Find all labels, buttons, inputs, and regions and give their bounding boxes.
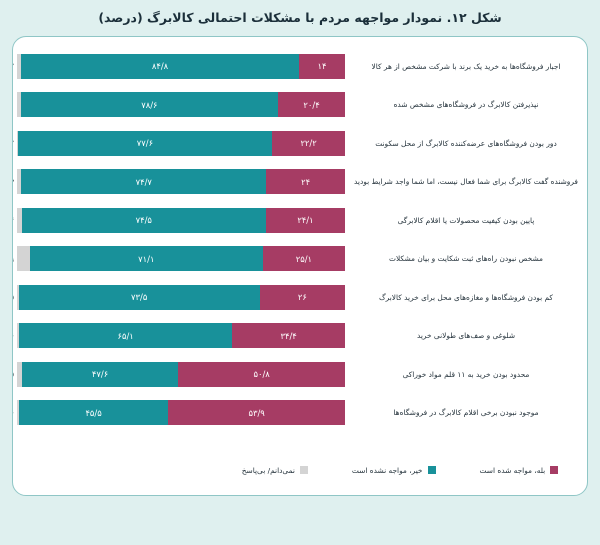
bar-track: ۳۴/۴۶۵/۱۰/۶ [17, 323, 345, 348]
bar-segment-no: ۷۱/۱ [30, 246, 263, 271]
bar-segment-na-value: ۳/۹ [12, 254, 14, 263]
bar-segment-na-value: ۱/۱ [12, 100, 14, 109]
legend-item-label: بله، مواجه شده است [480, 466, 546, 475]
bar-segment-na-value: ۱/۵ [12, 370, 14, 379]
legend-item-yes[interactable]: بله، مواجه شده است [480, 466, 559, 475]
bar-segment-yes: ۵۳/۹ [168, 400, 345, 425]
legend-item-label: خیر، مواجه نشده است [352, 466, 423, 475]
bar-row-label: پایین بودن کیفیت محصولات یا اقلام کالابر… [345, 216, 587, 225]
bar-row: محدود بودن خرید به ۱۱ قلم مواد خوراکی۵۰/… [13, 355, 587, 394]
bar-segment-no: ۶۵/۱ [19, 323, 232, 348]
legend-item-na[interactable]: نمی‌دانم/ بی‌پاسخ [242, 466, 308, 475]
bar-segment-na-value: ۱/۴ [12, 216, 14, 225]
bar-segment-no: ۷۷/۶ [18, 131, 273, 156]
bar-segment-no: ۷۸/۶ [21, 92, 279, 117]
bar-segment-yes: ۲۶ [260, 285, 345, 310]
bar-track: ۲۲/۲۷۷/۶۰/۲ [17, 131, 345, 156]
bar-row: مشخص نبودن راه‌های ثبت شکایت و بیان مشکل… [13, 240, 587, 279]
bar-segment-yes: ۲۲/۲ [272, 131, 345, 156]
bar-row: شلوغی و صف‌های طولانی خرید۳۴/۴۶۵/۱۰/۶ [13, 317, 587, 356]
plot-area: اجبار فروشگاه‌ها به خرید یک برند با شرکت… [13, 45, 587, 453]
legend-swatch-icon [300, 466, 308, 474]
bar-segment-na [17, 362, 22, 387]
bar-segment-na [17, 131, 18, 156]
bar-row: کم بودن فروشگاه‌ها و مغازه‌های محل برای … [13, 278, 587, 317]
bar-segment-na-value: ۰/۲ [12, 139, 14, 148]
bar-segment-na-value: ۰/۵ [12, 293, 14, 302]
bar-row-label: اجبار فروشگاه‌ها به خرید یک برند با شرکت… [345, 62, 587, 71]
bar-track: ۵۰/۸۴۷/۶۱/۵ [17, 362, 345, 387]
legend-swatch-icon [550, 466, 558, 474]
bar-row-label: شلوغی و صف‌های طولانی خرید [345, 331, 587, 340]
bar-segment-na-value: ۱/۲ [12, 62, 14, 71]
bar-segment-yes: ۲۴/۱ [266, 208, 345, 233]
legend-swatch-icon [428, 466, 436, 474]
bar-row: فروشنده گفت کالابرگ برای شما فعال نیست، … [13, 163, 587, 202]
bar-track: ۲۶۷۳/۵۰/۵ [17, 285, 345, 310]
bar-row-label: محدود بودن خرید به ۱۱ قلم مواد خوراکی [345, 370, 587, 379]
bar-segment-no: ۴۵/۵ [19, 400, 168, 425]
bar-segment-na-value: ۰/۶ [12, 331, 14, 340]
bar-segment-na [17, 169, 21, 194]
legend-item-label: نمی‌دانم/ بی‌پاسخ [242, 466, 295, 475]
bar-segment-na [17, 246, 30, 271]
bar-track: ۵۳/۹۴۵/۵۰/۶ [17, 400, 345, 425]
title-band: شکل ۱۲. نمودار مواجهه مردم با مشکلات احت… [0, 0, 600, 34]
bar-segment-no: ۸۴/۸ [21, 54, 299, 79]
bar-segment-na [17, 323, 19, 348]
bar-segment-na-value: ۰/۶ [12, 408, 14, 417]
bar-segment-yes: ۲۰/۴ [278, 92, 345, 117]
bar-row: پایین بودن کیفیت محصولات یا اقلام کالابر… [13, 201, 587, 240]
bottom-filler [0, 496, 600, 545]
bar-segment-na-value: ۱/۳ [12, 177, 14, 186]
bar-segment-na [17, 54, 21, 79]
chart-panel: اجبار فروشگاه‌ها به خرید یک برند با شرکت… [12, 36, 588, 496]
bar-row-label: کم بودن فروشگاه‌ها و مغازه‌های محل برای … [345, 293, 587, 302]
bar-segment-yes: ۵۰/۸ [178, 362, 345, 387]
bar-row: دور بودن فروشگاه‌های عرضه‌کننده کالابرگ … [13, 124, 587, 163]
bar-row-label: دور بودن فروشگاه‌های عرضه‌کننده کالابرگ … [345, 139, 587, 148]
bar-segment-na [17, 208, 22, 233]
bar-track: ۲۰/۴۷۸/۶۱/۱ [17, 92, 345, 117]
bar-segment-na [17, 92, 21, 117]
bar-track: ۲۴۷۴/۷۱/۳ [17, 169, 345, 194]
bar-segment-yes: ۱۴ [299, 54, 345, 79]
bar-segment-no: ۴۷/۶ [22, 362, 178, 387]
bar-segment-na [17, 285, 19, 310]
bar-track: ۲۴/۱۷۴/۵۱/۴ [17, 208, 345, 233]
bar-track: ۱۴۸۴/۸۱/۲ [17, 54, 345, 79]
bar-segment-no: ۷۴/۵ [22, 208, 266, 233]
bar-segment-yes: ۲۴ [266, 169, 345, 194]
bar-segment-na [17, 400, 19, 425]
bar-row: موجود نبودن برخی اقلام کالابرگ در فروشگا… [13, 394, 587, 433]
bar-segment-yes: ۲۵/۱ [263, 246, 345, 271]
bar-row: اجبار فروشگاه‌ها به خرید یک برند با شرکت… [13, 47, 587, 86]
chart-legend: بله، مواجه شده استخیر، مواجه نشده استنمی… [13, 455, 587, 485]
bar-row-label: مشخص نبودن راه‌های ثبت شکایت و بیان مشکل… [345, 254, 587, 263]
bar-segment-no: ۷۳/۵ [19, 285, 260, 310]
bar-segment-yes: ۳۴/۴ [232, 323, 345, 348]
bar-row-label: موجود نبودن برخی اقلام کالابرگ در فروشگا… [345, 408, 587, 417]
bar-row: نپذیرفتن کالابرگ در فروشگاه‌های مشخص شده… [13, 86, 587, 125]
bar-row-label: فروشنده گفت کالابرگ برای شما فعال نیست، … [345, 177, 587, 186]
bar-track: ۲۵/۱۷۱/۱۳/۹ [17, 246, 345, 271]
bar-segment-no: ۷۴/۷ [21, 169, 266, 194]
bar-row-label: نپذیرفتن کالابرگ در فروشگاه‌های مشخص شده [345, 100, 587, 109]
legend-item-no[interactable]: خیر، مواجه نشده است [352, 466, 436, 475]
page-title: شکل ۱۲. نمودار مواجهه مردم با مشکلات احت… [98, 10, 501, 25]
